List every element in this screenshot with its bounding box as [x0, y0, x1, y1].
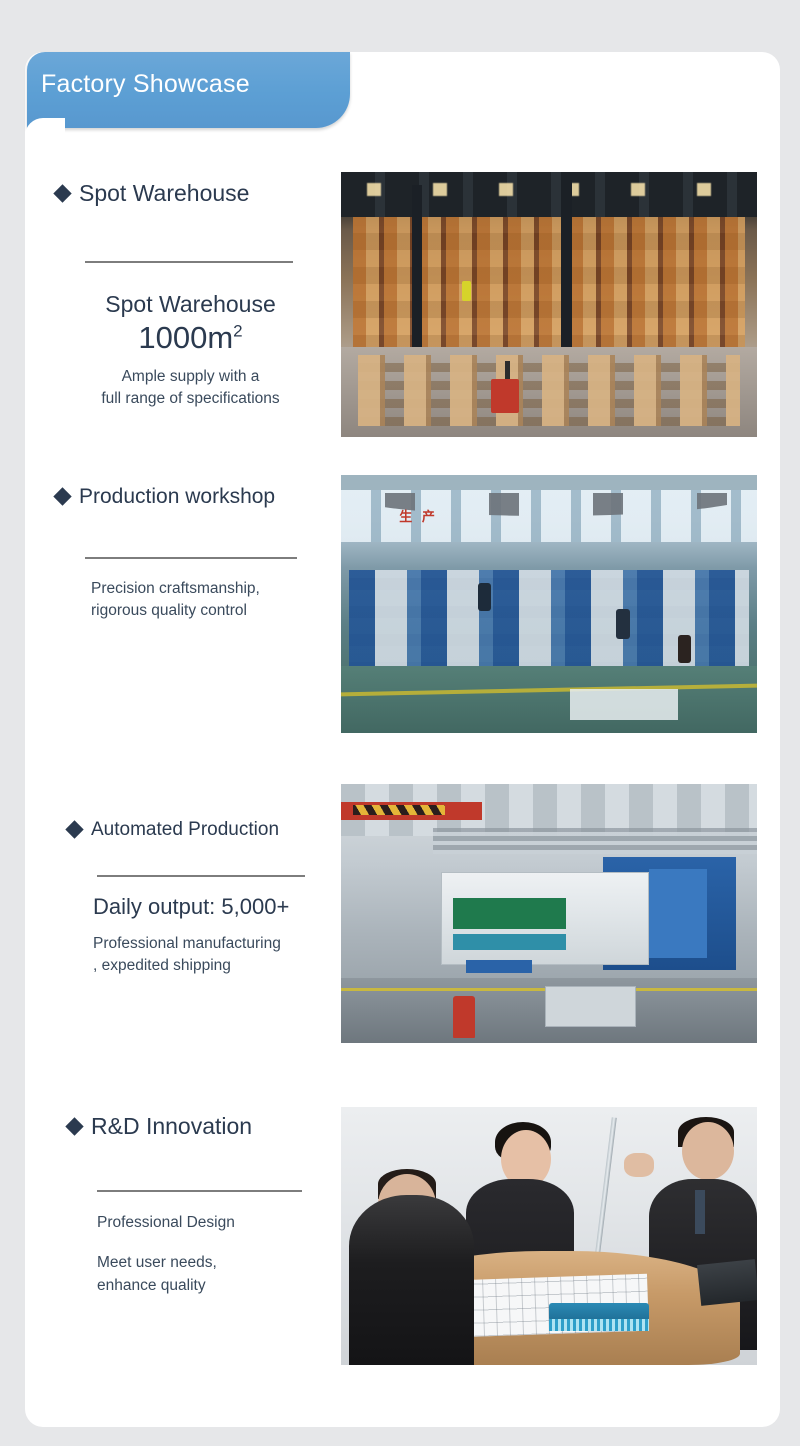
production-workshop-photo: 生 产 — [341, 475, 757, 733]
header-banner: Factory Showcase — [27, 52, 350, 128]
divider-automated-production — [97, 875, 305, 877]
section-rnd-innovation: R&D Innovation — [68, 1115, 252, 1138]
banner-notch — [25, 118, 65, 158]
section-title-production-workshop: Production workshop — [56, 486, 275, 507]
description-automated-production: Professional manufacturing , expedited s… — [93, 933, 333, 978]
workshop-sign-text: 生 产 — [399, 506, 438, 525]
section-body-spot-warehouse: Spot Warehouse 1000m2 Ample supply with … — [78, 290, 303, 411]
divider-production-workshop — [85, 557, 297, 559]
automated-production-photo — [341, 784, 757, 1043]
stat-spot-warehouse: 1000m2 — [78, 319, 303, 356]
factory-showcase-page: Factory Showcase Spot Warehouse Spot War… — [0, 0, 800, 1446]
divider-spot-warehouse — [85, 261, 293, 263]
section-spot-warehouse: Spot Warehouse — [56, 182, 249, 205]
section-body-rnd-innovation: Professional Design Meet user needs, enh… — [97, 1212, 327, 1297]
diamond-bullet-icon — [65, 1117, 83, 1135]
description-rnd-innovation: Meet user needs, enhance quality — [97, 1252, 327, 1297]
section-title-rnd-innovation: R&D Innovation — [68, 1115, 252, 1138]
section-automated-production: Automated Production — [68, 820, 279, 839]
headline-spot-warehouse: Spot Warehouse — [78, 290, 303, 319]
headline-automated-production: Daily output: 5,000+ — [93, 893, 333, 921]
diamond-bullet-icon — [53, 184, 71, 202]
description-top-rnd-innovation: Professional Design — [97, 1212, 327, 1234]
section-body-production-workshop: Precision craftsmanship, rigorous qualit… — [91, 578, 321, 623]
section-body-automated-production: Daily output: 5,000+ Professional manufa… — [93, 893, 333, 977]
spot-warehouse-photo — [341, 172, 757, 437]
diamond-bullet-icon — [53, 487, 71, 505]
rnd-innovation-photo — [341, 1107, 757, 1365]
description-spot-warehouse: Ample supply with a full range of specif… — [78, 366, 303, 411]
diamond-bullet-icon — [65, 820, 83, 838]
section-title-spot-warehouse: Spot Warehouse — [56, 182, 249, 205]
stat-value: 1000m — [138, 320, 233, 355]
section-title-automated-production: Automated Production — [68, 820, 279, 839]
divider-rnd-innovation — [97, 1190, 302, 1192]
description-production-workshop: Precision craftsmanship, rigorous qualit… — [91, 578, 321, 623]
stat-superscript: 2 — [233, 321, 242, 340]
page-title: Factory Showcase — [41, 70, 250, 99]
section-production-workshop: Production workshop — [56, 486, 275, 507]
